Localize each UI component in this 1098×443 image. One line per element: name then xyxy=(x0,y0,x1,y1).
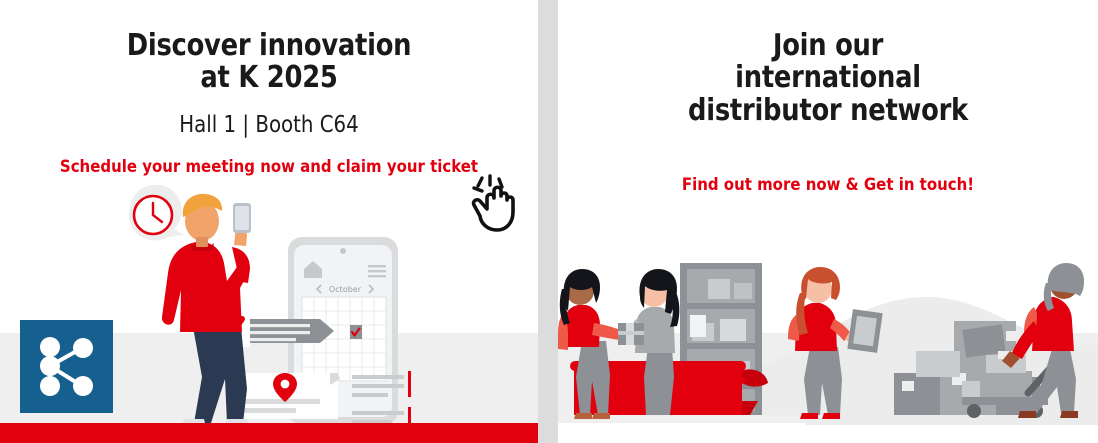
clock-speech-bubble xyxy=(129,185,184,241)
cta-link-right[interactable]: Find out more now & Get in touch! xyxy=(590,175,1065,195)
page-title-right: Join our international distributor netwo… xyxy=(596,30,1060,127)
cta-link-left[interactable]: Schedule your meeting now and claim your… xyxy=(32,157,505,177)
warehouse-distribution-illustration xyxy=(558,255,1098,425)
calendar-month-label: October xyxy=(329,285,362,294)
network-nodes-icon xyxy=(20,320,113,413)
package-box xyxy=(618,323,644,345)
person-scheduling-meeting-illustration: October xyxy=(120,185,420,425)
promo-banner: Discover innovation at K 2025 Hall 1 | B… xyxy=(0,0,1098,443)
panel-divider xyxy=(538,0,558,443)
booth-location-left: Hall 1 | Booth C64 xyxy=(38,112,501,138)
click-hand-icon[interactable] xyxy=(470,174,534,240)
person-with-smartphone-figure xyxy=(162,194,251,425)
page-title-left: Discover innovation at K 2025 xyxy=(38,30,501,95)
k-2025-logo[interactable] xyxy=(20,320,113,413)
panel-trade-fair[interactable]: Discover innovation at K 2025 Hall 1 | B… xyxy=(0,0,538,443)
bottom-red-bar-left xyxy=(0,423,538,443)
panel-distributor-network[interactable]: Join our international distributor netwo… xyxy=(558,0,1098,443)
